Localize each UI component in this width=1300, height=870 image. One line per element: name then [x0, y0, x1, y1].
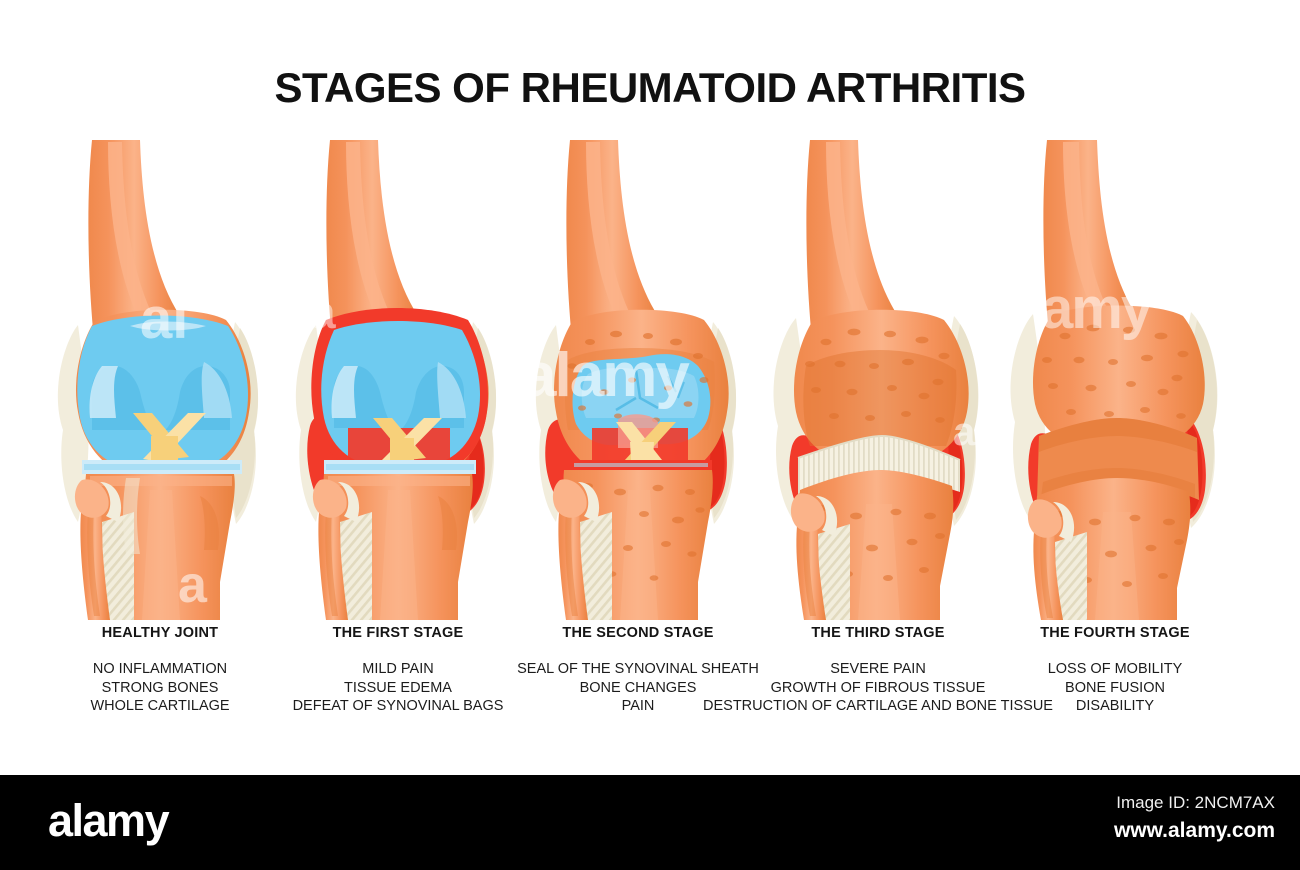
stage-heading: THE FOURTH STAGE: [925, 625, 1300, 641]
website-url: www.alamy.com: [955, 819, 1275, 843]
knee-illustration-second-stage: alamy: [508, 130, 768, 620]
caption-fourth-stage: THE FOURTH STAGE LOSS OF MOBILITY BONE F…: [925, 625, 1300, 716]
infographic-canvas: STAGES OF RHEUMATOID ARTHRITIS: [0, 0, 1300, 775]
stage-line: BONE FUSION: [925, 679, 1300, 698]
knee-illustration-fourth-stage: amy: [985, 130, 1245, 620]
stock-photo-footer: alamy Image ID: 2NCM7AX www.alamy.com: [0, 775, 1300, 870]
stage-column-fourth: amy THE FOURTH STAGE LOSS OF MOBILITY BO…: [985, 130, 1245, 770]
knee-illustration-first-stage: a: [268, 130, 528, 620]
alamy-logo: alamy: [48, 795, 168, 847]
page-title: STAGES OF RHEUMATOID ARTHRITIS: [0, 64, 1300, 112]
image-id-label: Image ID: 2NCM7AX: [955, 793, 1275, 813]
stage-line: LOSS OF MOBILITY: [925, 660, 1300, 679]
stage-line: DISABILITY: [925, 697, 1300, 716]
knee-illustration-third-stage: a: [748, 130, 1008, 620]
knee-illustration-healthy: al a: [30, 130, 290, 620]
